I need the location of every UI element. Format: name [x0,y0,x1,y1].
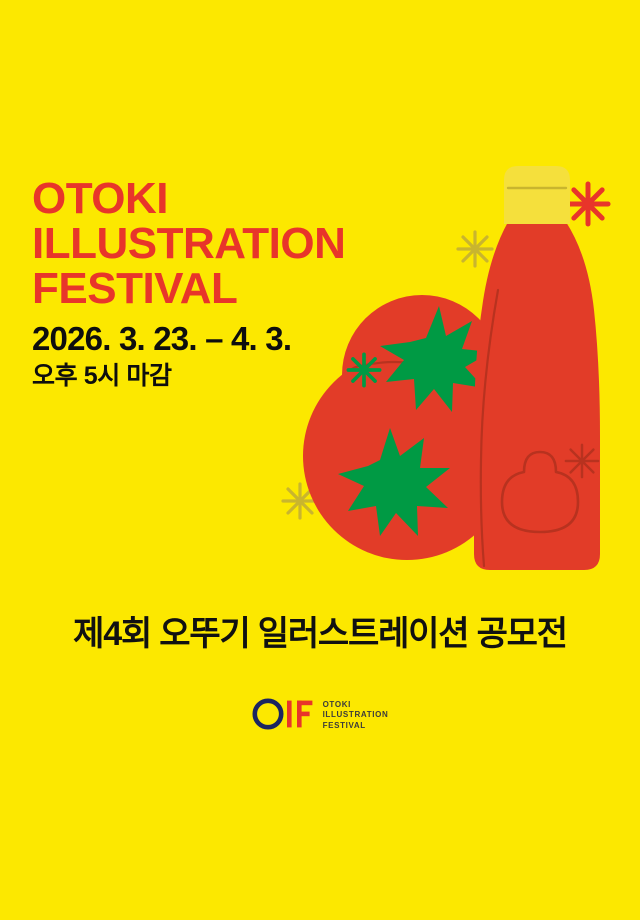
bottle-body [474,176,600,570]
poster-canvas: OTOKI ILLUSTRATION FESTIVAL 2026. 3. 23.… [0,0,640,920]
logo-letter-i [287,701,292,728]
ketchup-bottle [474,166,600,570]
poster-dates: 2026. 3. 23. – 4. 3. 오후 5시 마감 [32,318,291,393]
poster-title: OTOKI ILLUSTRATION FESTIVAL [32,176,345,311]
sparkle-darkred-on-bottle-icon [566,445,598,477]
title-line-festival: FESTIVAL [32,266,345,311]
date-deadline: 오후 5시 마감 [32,359,291,393]
title-line-otoki: OTOKI [32,176,345,221]
sparkle-green-on-tomato-icon [348,354,379,385]
title-line-illustration: ILLUSTRATION [32,221,345,266]
competition-headline: 제4회 오뚜기 일러스트레이션 공모전 [0,612,640,656]
date-range: 2026. 3. 23. – 4. 3. [32,318,291,359]
oif-logo-wordmark: OTOKI ILLUSTRATION FESTIVAL [323,698,389,731]
oif-logo-mark [252,694,314,734]
logo-wordmark-line-1: OTOKI [323,700,389,710]
logo-wordmark-line-2: ILLUSTRATION [323,710,389,720]
bottle-cap [504,166,570,224]
sparkle-olive-upper-left-icon [458,232,492,266]
logo-letter-o [254,701,280,727]
logo-wordmark-line-3: FESTIVAL [323,721,389,731]
oif-logo-lockup: OTOKI ILLUSTRATION FESTIVAL [0,694,640,734]
sparkle-red-top-right-icon [568,184,608,224]
logo-letter-f [297,701,312,728]
competition-headline-text: 제4회 오뚜기 일러스트레이션 공모전 [0,612,640,656]
